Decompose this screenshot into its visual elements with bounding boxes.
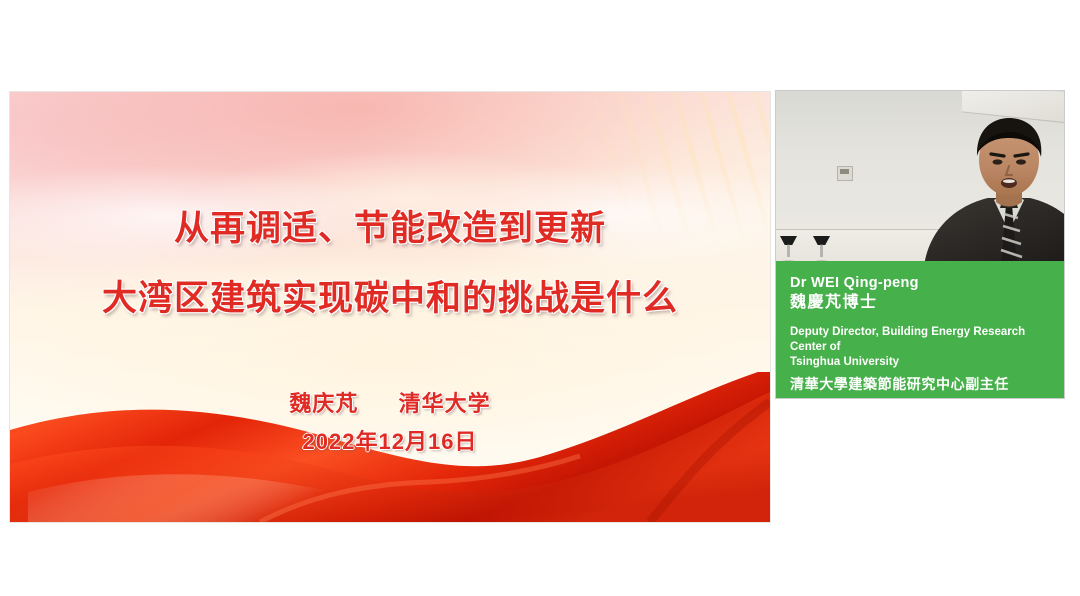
slide-title-line-1: 从再调适、节能改造到更新 — [10, 200, 770, 251]
speaker-title-english-line-2: Tsinghua University — [790, 355, 1050, 370]
speaker-video-feed[interactable] — [776, 91, 1064, 266]
slide-title-line-2: 大湾区建筑实现碳中和的挑战是什么 — [10, 270, 770, 321]
speaker-video-panel[interactable]: Dr WEI Qing-peng 魏慶芃博士 Deputy Director, … — [776, 91, 1064, 398]
slide-date: 2022年12月16日 — [10, 424, 770, 456]
presentation-slide[interactable]: 从再调适、节能改造到更新 大湾区建筑实现碳中和的挑战是什么 魏庆芃 清华大学 2… — [10, 92, 770, 522]
slide-author-name: 魏庆芃 — [289, 391, 358, 416]
speaker-title-chinese: 清華大學建築節能研究中心副主任 — [790, 375, 1050, 393]
webinar-stage: 从再调适、节能改造到更新 大湾区建筑实现碳中和的挑战是什么 魏庆芃 清华大学 2… — [0, 0, 1080, 596]
speaker-title-english: Deputy Director, Building Energy Researc… — [790, 325, 1050, 369]
speaker-title-english-line-1: Deputy Director, Building Energy Researc… — [790, 325, 1050, 354]
speaker-name-banner: Dr WEI Qing-peng 魏慶芃博士 Deputy Director, … — [776, 261, 1064, 398]
wall-switch-plate — [837, 166, 853, 181]
speaker-figure — [914, 116, 1064, 266]
speaker-name-chinese: 魏慶芃博士 — [790, 293, 1050, 313]
speaker-name-english: Dr WEI Qing-peng — [790, 275, 1050, 292]
glass-stem — [820, 244, 823, 257]
slide-author-line: 魏庆芃 清华大学 — [10, 386, 770, 418]
slide-affiliation: 清华大学 — [399, 391, 491, 416]
glassware-item — [780, 236, 797, 264]
glassware-item — [813, 236, 830, 264]
glass-stem — [787, 244, 790, 257]
